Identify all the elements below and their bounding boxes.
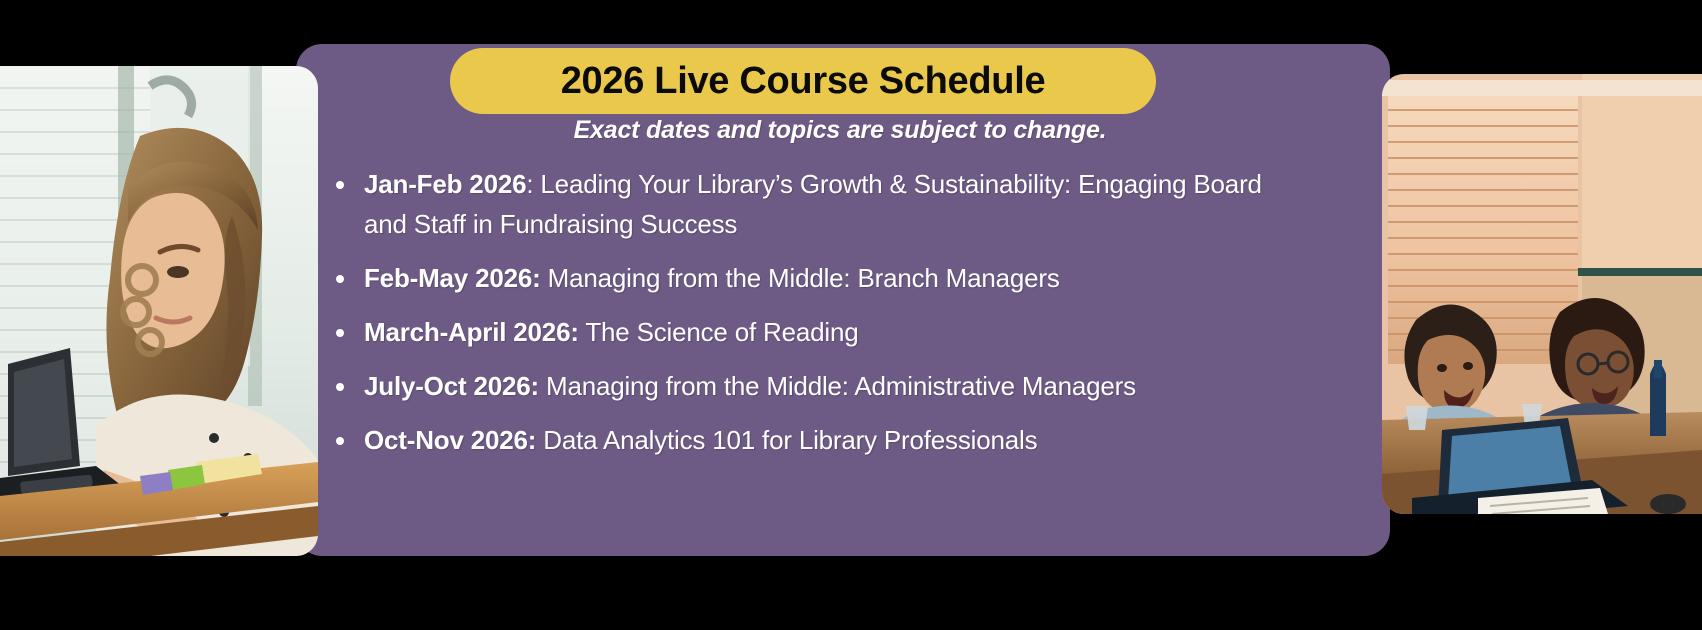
left-photo	[0, 66, 318, 556]
banner-canvas: 2026 Live Course Schedule Exact dates an…	[0, 0, 1702, 630]
subtitle-disclaimer: Exact dates and topics are subject to ch…	[330, 116, 1350, 145]
page-title: 2026 Live Course Schedule	[561, 60, 1046, 103]
list-item: Jan-Feb 2026: Leading Your Library’s Gro…	[330, 164, 1280, 244]
list-item: Feb-May 2026: Managing from the Middle: …	[330, 258, 1280, 298]
course-term: July-Oct 2026:	[364, 371, 539, 401]
bullet-dot-icon	[336, 181, 344, 189]
bullet-dot-icon	[336, 383, 344, 391]
bullet-dot-icon	[336, 275, 344, 283]
right-photo	[1382, 74, 1702, 514]
course-term: Feb-May 2026:	[364, 263, 541, 293]
course-title: Data Analytics 101 for Library Professio…	[543, 425, 1037, 455]
schedule-list: Jan-Feb 2026: Leading Your Library’s Gro…	[330, 164, 1280, 474]
course-term: March-April 2026:	[364, 317, 579, 347]
list-item: March-April 2026: The Science of Reading	[330, 312, 1280, 352]
course-term: Oct-Nov 2026:	[364, 425, 536, 455]
course-separator	[541, 263, 548, 293]
title-pill: 2026 Live Course Schedule	[450, 48, 1156, 114]
left-photo-illustration	[0, 66, 318, 556]
bullet-dot-icon	[336, 437, 344, 445]
list-item: July-Oct 2026: Managing from the Middle:…	[330, 366, 1280, 406]
course-title: The Science of Reading	[585, 317, 858, 347]
course-title: Managing from the Middle: Branch Manager…	[548, 263, 1060, 293]
course-term: Jan-Feb 2026	[364, 169, 526, 199]
course-separator: :	[526, 169, 540, 199]
course-separator	[539, 371, 546, 401]
bullet-dot-icon	[336, 329, 344, 337]
right-photo-illustration	[1382, 74, 1702, 514]
list-item: Oct-Nov 2026: Data Analytics 101 for Lib…	[330, 420, 1280, 460]
course-title: Managing from the Middle: Administrative…	[546, 371, 1136, 401]
